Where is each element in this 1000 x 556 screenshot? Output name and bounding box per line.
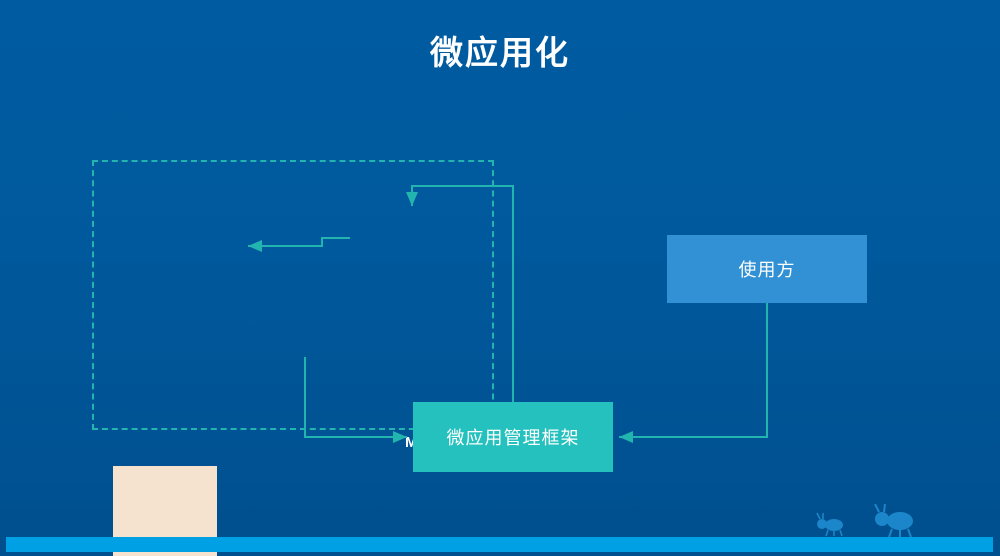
framework-box[interactable]: 微应用管理框架: [413, 402, 613, 472]
slide-canvas: 微应用化 MicroApp 页面 路由入口 应用配置 微应用管理框架 使用方 页…: [0, 0, 1000, 556]
ant-icon: [817, 513, 843, 536]
consumer-label: 使用方: [739, 256, 796, 282]
arrow-consumer-to-framework: [619, 303, 767, 437]
microapp-boundary: [92, 160, 494, 430]
ant-icon: [875, 504, 913, 537]
consumer-box[interactable]: 使用方: [667, 235, 867, 303]
page-title: 微应用化: [0, 26, 1000, 74]
framework-label: 微应用管理框架: [447, 424, 580, 450]
ant-decoration: [800, 504, 960, 538]
bottom-accent-bar: [6, 537, 993, 552]
